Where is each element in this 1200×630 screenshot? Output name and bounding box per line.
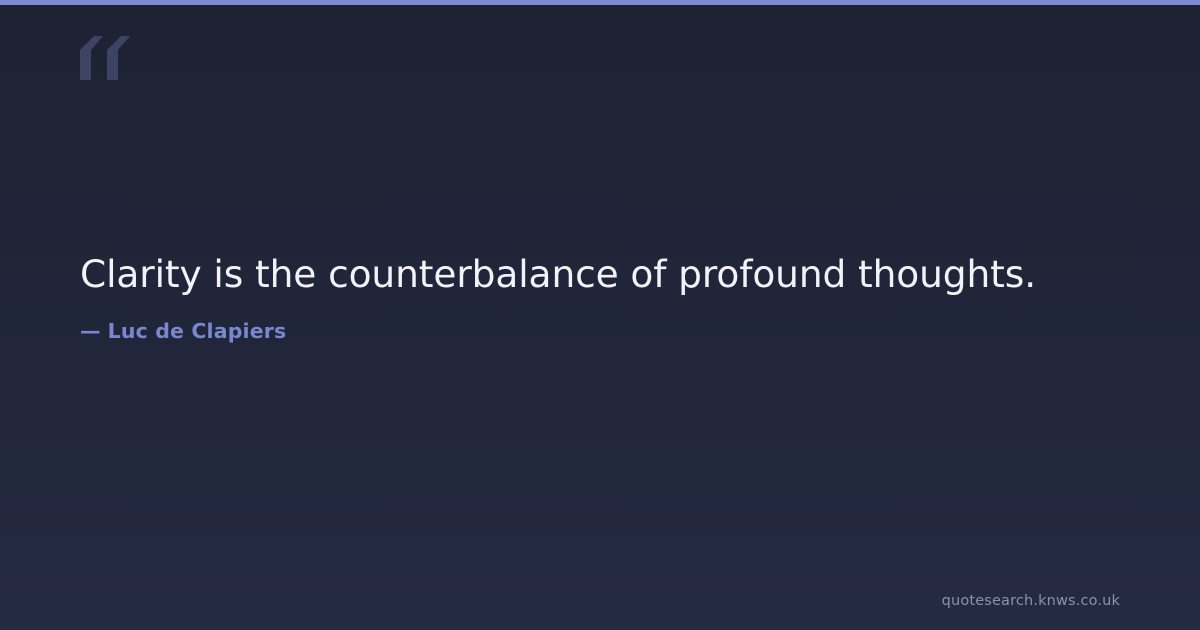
quote-block: Clarity is the counterbalance of profoun… xyxy=(80,250,1130,343)
top-accent-bar xyxy=(0,0,1200,5)
open-quote-icon xyxy=(78,36,134,82)
quote-attribution: —Luc de Clapiers xyxy=(80,298,1130,343)
quote-text: Clarity is the counterbalance of profoun… xyxy=(80,250,1130,298)
quote-card: Clarity is the counterbalance of profoun… xyxy=(0,0,1200,630)
attribution-author: Luc de Clapiers xyxy=(108,319,287,343)
source-watermark: quotesearch.knws.co.uk xyxy=(942,593,1120,609)
attribution-dash: — xyxy=(80,319,108,343)
